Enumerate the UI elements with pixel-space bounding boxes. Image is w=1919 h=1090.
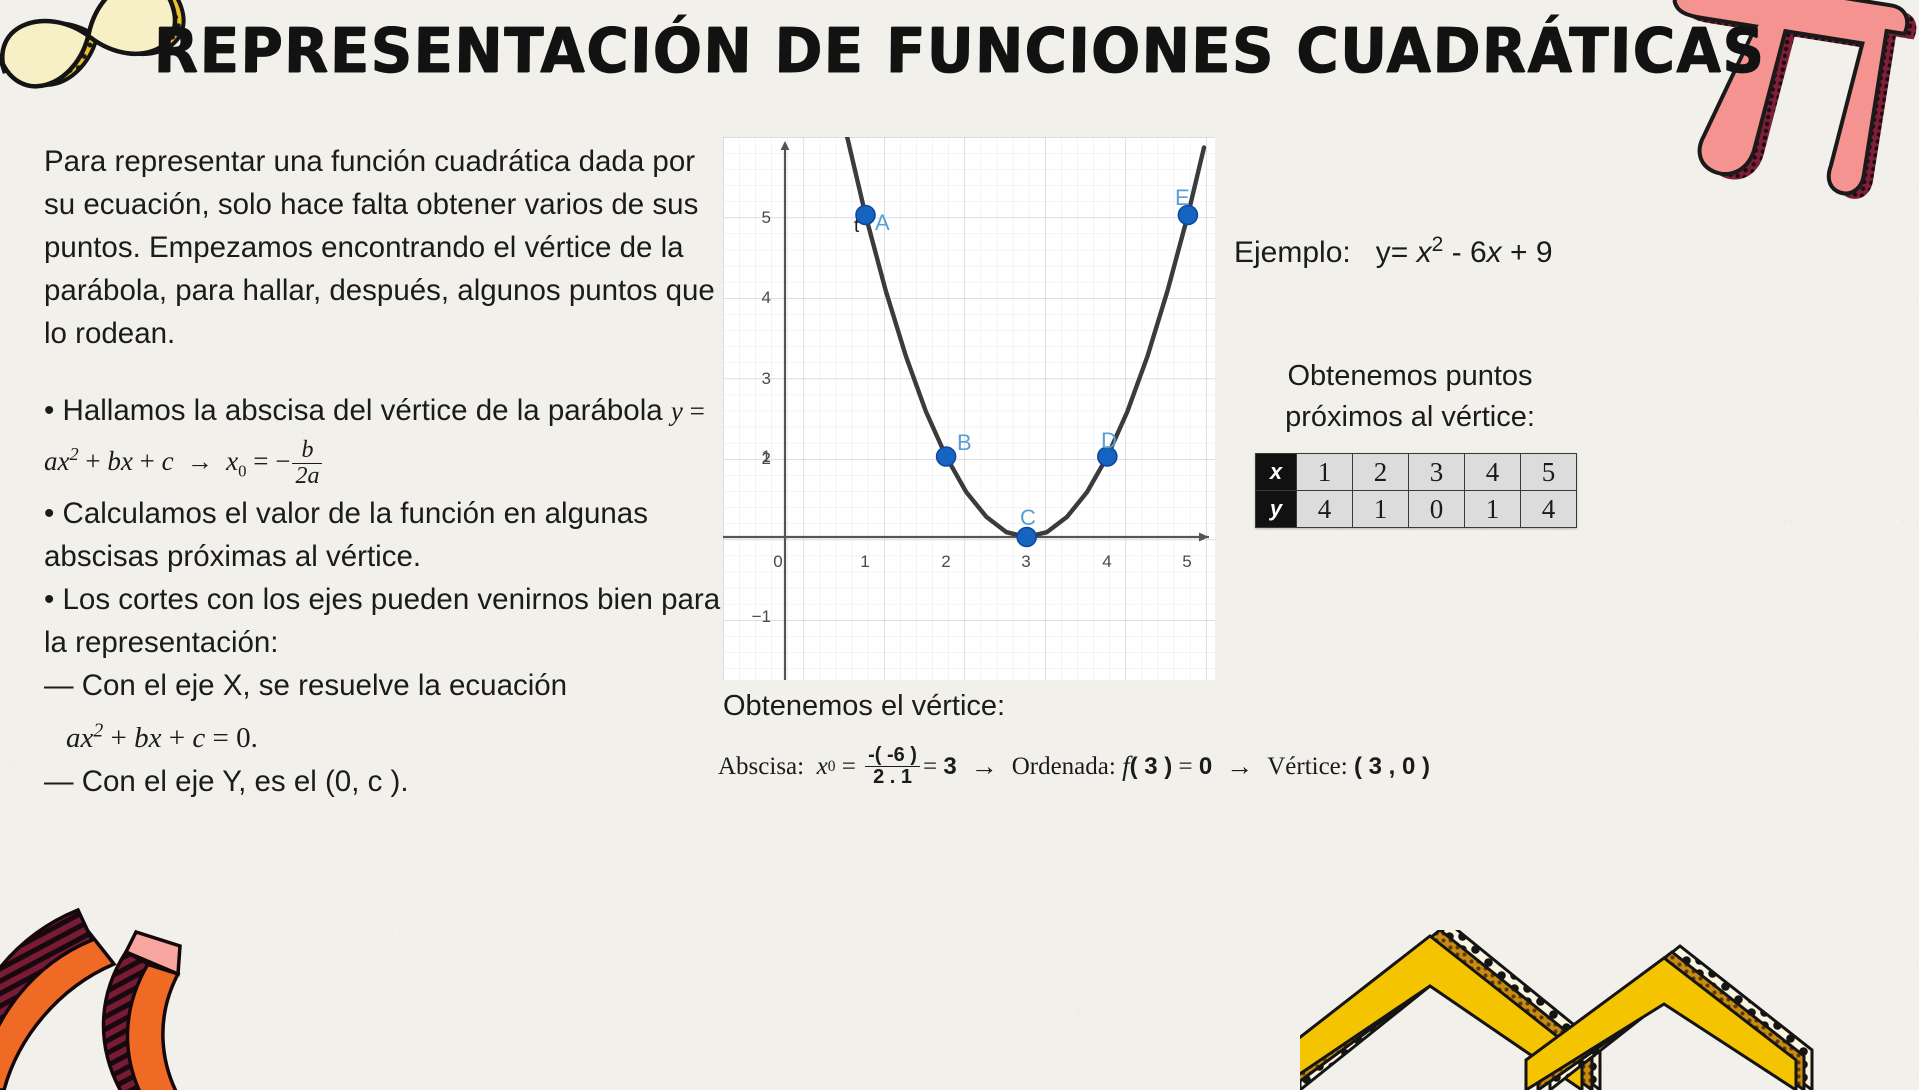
points-intro-text: Obtenemos puntos próximos al vértice: [1240, 356, 1580, 438]
y-tick-minus1: −1 [752, 607, 771, 626]
point-label-D: D [1101, 428, 1117, 453]
x-tick-3: 3 [1021, 552, 1030, 571]
table-header-x: x [1256, 454, 1297, 491]
table-cell-y-2: 0 [1409, 491, 1465, 528]
table-row-x: x 1 2 3 4 5 [1256, 454, 1577, 491]
eq-a: a [66, 722, 81, 754]
table-cell-x-2: 3 [1409, 454, 1465, 491]
eq-b: b [134, 722, 149, 754]
formula-x0-sub: 0 [238, 461, 246, 480]
x-tick-1: 1 [860, 552, 869, 571]
formula-minus: − [275, 446, 290, 476]
formula-fraction: b2a [292, 438, 322, 489]
example-equation: Ejemplo: y= x2 - 6x + 9 [1234, 233, 1553, 270]
ordinate-label: Ordenada: [1012, 753, 1116, 781]
x-tick-5: 5 [1182, 552, 1191, 571]
table-cell-x-3: 4 [1465, 454, 1521, 491]
fraction-denominator: 2a [292, 464, 322, 489]
example-x: x [1417, 236, 1432, 269]
example-y: y= [1376, 236, 1409, 269]
formula-b: b [107, 446, 121, 476]
eq-equals: = [212, 722, 228, 754]
table-cell-y-3: 1 [1465, 491, 1521, 528]
function-symbol: f [1122, 751, 1130, 782]
abscissa-x-subscript: 0 [828, 758, 836, 776]
eq-plus-2: + [169, 722, 185, 754]
axis-x-equation: ax2 + bx + c = 0. [66, 709, 734, 760]
formula-a: a [44, 446, 58, 476]
example-tail: + 9 [1510, 236, 1553, 269]
arrow-1: → [971, 751, 998, 782]
formula-c: c [162, 446, 174, 476]
chevron-decoration-right [1300, 930, 1919, 1090]
eq-plus-1: + [110, 722, 126, 754]
data-point-D[interactable]: D [1098, 428, 1117, 466]
ribbon-decoration-left [0, 880, 304, 1090]
formula-x: x [58, 446, 70, 476]
abscissa-frac-den: 2 . 1 [865, 767, 920, 788]
x-tick-0: 0 [773, 552, 782, 571]
bullet-item-1: • Hallamos la abscisa del vértice de la … [44, 389, 734, 492]
formula-plus-1: + [85, 446, 100, 476]
abscissa-x-symbol: x [817, 753, 828, 781]
x-tick-4: 4 [1102, 552, 1111, 571]
formula-x0: x [226, 446, 238, 476]
function-argument: ( 3 ) [1130, 753, 1173, 781]
formula-y: y [671, 396, 683, 426]
dash-item-2: — Con el eje Y, es el (0, c ). [44, 760, 734, 803]
parabola-chart[interactable]: 5 4 3 2 0 −1 1 1 [723, 137, 1215, 680]
formula-plus-2: + [140, 446, 155, 476]
eq-bx: x [149, 722, 162, 754]
y-tick-4: 4 [762, 288, 771, 307]
formula-eq: = [690, 396, 705, 426]
vertex-heading: Obtenemos el vértice: [723, 690, 1005, 723]
example-label: Ejemplo: [1234, 236, 1351, 269]
example-sup: 2 [1432, 233, 1444, 256]
abscissa-label: Abscisa: [718, 753, 804, 781]
abscissa-equals: = [842, 753, 856, 781]
values-table: x 1 2 3 4 5 y 4 1 0 1 4 [1255, 453, 1577, 528]
example-rest: - 6 [1452, 236, 1487, 269]
example-x2: x [1487, 236, 1502, 269]
point-label-E: E [1175, 185, 1190, 210]
table-cell-y-4: 4 [1521, 491, 1577, 528]
function-graph-panel[interactable]: 5 4 3 2 0 −1 1 1 [723, 137, 1215, 680]
abscissa-equals-2: = [923, 753, 937, 781]
y-tick-3: 3 [762, 369, 771, 388]
eq-c: c [192, 722, 205, 754]
x-tick-2: 2 [941, 552, 950, 571]
vertex-formula: Abscisa: x0 = -( -6 ) 2 . 1 = 3 → Ordena… [718, 745, 1430, 788]
abscissa-frac-num: -( -6 ) [865, 745, 920, 767]
bullet-item-3: • Los cortes con los ejes pueden venirno… [44, 578, 734, 664]
table-header-y: y [1256, 491, 1297, 528]
formula-bx: x [121, 446, 133, 476]
left-text-column: Para representar una función cuadrática … [44, 140, 734, 803]
table-cell-y-1: 1 [1353, 491, 1409, 528]
eq-x: x [81, 722, 94, 754]
table-cell-x-4: 5 [1521, 454, 1577, 491]
point-label-A: A [875, 210, 890, 235]
y-tick-1-final: 1 [762, 447, 771, 466]
bullet-1-text: • Hallamos la abscisa del vértice de la … [44, 394, 663, 427]
abscissa-fraction: -( -6 ) 2 . 1 [865, 745, 920, 788]
bullet-item-2: • Calculamos el valor de la función en a… [44, 492, 734, 578]
table-cell-x-1: 2 [1353, 454, 1409, 491]
vertex-value: ( 3 , 0 ) [1354, 753, 1430, 781]
fraction-numerator: b [292, 438, 322, 464]
point-label-C: C [1020, 505, 1036, 530]
table-cell-y-0: 4 [1297, 491, 1353, 528]
abscissa-value: 3 [943, 753, 956, 781]
y-tick-5: 5 [762, 208, 771, 227]
table-cell-x-0: 1 [1297, 454, 1353, 491]
intro-paragraph: Para representar una función cuadrática … [44, 140, 734, 355]
ordinate-equals: = [1179, 753, 1193, 781]
point-label-B: B [957, 430, 972, 455]
table-row-y: y 4 1 0 1 4 [1256, 491, 1577, 528]
vertex-label: Vértice: [1267, 753, 1348, 781]
arrow-2: → [1226, 751, 1253, 782]
dash-item-1: — Con el eje X, se resuelve la ecuación [44, 664, 734, 707]
formula-exp: 2 [69, 444, 78, 464]
ordinate-value: 0 [1199, 753, 1212, 781]
eq-exp: 2 [93, 719, 103, 741]
formula-eq-2: = [253, 446, 268, 476]
page-title: REPRESENTACIÓN DE FUNCIONES CUADRÁTICAS [67, 14, 1852, 87]
data-point-C[interactable]: C [1017, 505, 1036, 547]
